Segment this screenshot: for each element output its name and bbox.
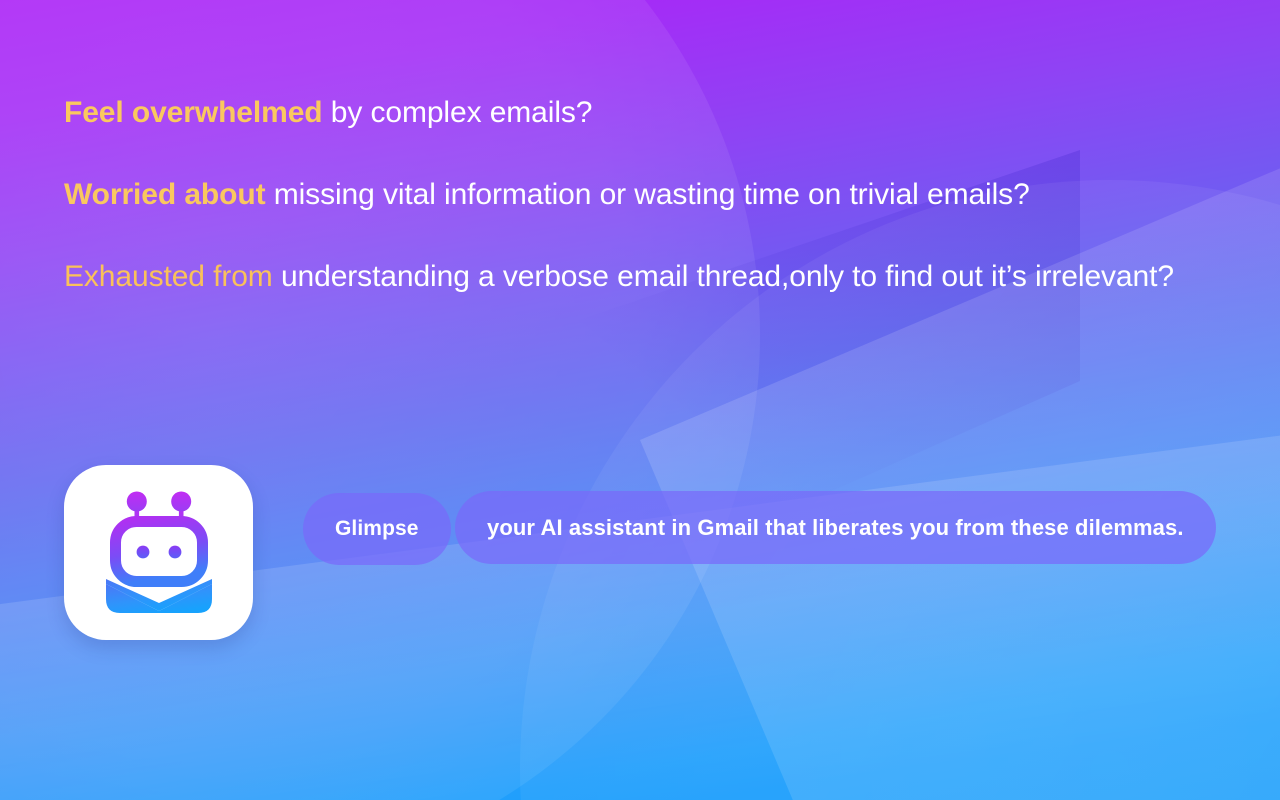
headline-highlight-3: Exhausted from xyxy=(64,260,273,293)
app-icon-tile[interactable] xyxy=(64,465,253,640)
tagline-bubble[interactable]: your AI assistant in Gmail that liberate… xyxy=(455,491,1216,564)
brand-name-bubble[interactable]: Glimpse xyxy=(303,493,451,565)
headline-rest-2: missing vital information or wasting tim… xyxy=(265,178,1029,211)
headline-block: Feel overwhelmed by complex emails? Worr… xyxy=(64,92,1229,297)
promo-slide: Feel overwhelmed by complex emails? Worr… xyxy=(0,0,1280,800)
headline-highlight-1: Feel overwhelmed xyxy=(64,96,323,129)
brand-row: Glimpse your AI assistant in Gmail that … xyxy=(64,465,1224,645)
headline-line-2: Worried about missing vital information … xyxy=(64,174,1229,215)
headline-line-3: Exhausted from understanding a verbose e… xyxy=(64,256,1229,297)
glimpse-robot-mail-icon xyxy=(100,491,218,615)
headline-rest-3: understanding a verbose email thread,onl… xyxy=(273,260,1174,293)
headline-line-1: Feel overwhelmed by complex emails? xyxy=(64,92,1229,133)
headline-highlight-2: Worried about xyxy=(64,178,265,211)
chat-bubble-group: Glimpse your AI assistant in Gmail that … xyxy=(303,465,1216,565)
headline-rest-1: by complex emails? xyxy=(323,96,593,129)
